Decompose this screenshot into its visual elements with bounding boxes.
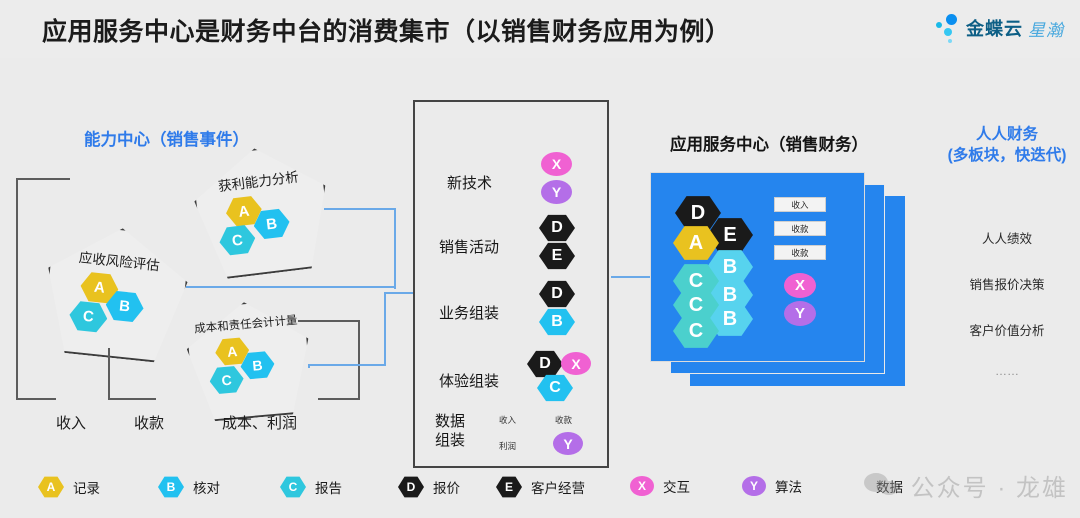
legend-item-e: E 客户经营 <box>496 476 585 498</box>
legend-label: 核对 <box>193 477 220 497</box>
mini-label-profit: 利润 <box>499 440 516 452</box>
connector-dark-mid-vertical <box>108 348 110 400</box>
token-y-ellipse[interactable]: Y <box>553 432 583 455</box>
token-d-icon: D <box>398 476 424 498</box>
legend-label: 报价 <box>433 477 460 497</box>
app-service-center-heading: 应用服务中心（销售财务） <box>670 131 868 155</box>
right-panel-heading-line1: 人人财务 <box>932 124 1080 145</box>
brand-logo: 金蝶云 星瀚 <box>935 10 1064 46</box>
legend-label: 交互 <box>663 476 690 496</box>
platform-row-label-sales-activity: 销售活动 <box>439 236 499 257</box>
right-list-item-4: …… <box>932 364 1080 378</box>
legend-item-y: Y 算法 <box>742 476 802 496</box>
bracket-left-vertical <box>16 178 18 400</box>
token-e-hex[interactable]: E <box>539 242 575 270</box>
logo-secondary-text: 星瀚 <box>1028 16 1064 41</box>
connector-blue-p1-vert <box>394 208 396 289</box>
legend-item-a: A 记录 <box>38 476 100 498</box>
token-x-ellipse[interactable]: X <box>561 352 591 375</box>
right-list-item-3[interactable]: 客户价值分析 <box>932 320 1080 339</box>
legend-label: 客户经营 <box>531 477 585 497</box>
token-c-hex[interactable]: C <box>537 374 573 402</box>
connector-blue-p3-horiz <box>308 364 386 366</box>
platform-row-label-experience-assembly: 体验组装 <box>439 370 499 391</box>
connector-blue-p1-horiz <box>324 208 396 210</box>
connector-blue-p3-vert <box>384 292 386 366</box>
pentagon-receivable-risk[interactable]: 应收风险评估 A B C <box>40 221 193 365</box>
token-x-icon: X <box>630 476 654 496</box>
token-a-icon: A <box>38 476 64 498</box>
connector-dark-right-vertical <box>358 320 360 400</box>
logo-dots-icon <box>935 13 961 43</box>
token-y-ellipse[interactable]: Y <box>541 180 572 204</box>
token-d-hex[interactable]: D <box>527 350 563 378</box>
platform-data-label-line2: 组装 <box>435 431 465 450</box>
platform-row-label-new-tech: 新技术 <box>447 172 492 193</box>
slide-canvas: 应用服务中心是财务中台的消费集市（以销售财务应用为例） 金蝶云 星瀚 能力中心（… <box>0 0 1080 518</box>
connector-dark-right-stub <box>298 320 360 322</box>
mini-label-receipt: 收款 <box>555 414 572 426</box>
token-b-hex[interactable]: B <box>539 308 575 336</box>
legend-item-x: X 交互 <box>630 476 690 496</box>
right-panel-heading: 人人财务 (多板块，快迭代) <box>932 124 1080 166</box>
wechat-icon <box>864 473 902 499</box>
right-list-item-1[interactable]: 人人绩效 <box>932 228 1080 247</box>
bracket-top-stub <box>16 178 70 180</box>
pentagon-cost-accounting[interactable]: 成本和责任会计计量 A B C <box>183 297 315 423</box>
mini-label-income: 收入 <box>499 414 516 426</box>
token-b-icon: B <box>158 476 184 498</box>
token-y-icon: Y <box>742 476 766 496</box>
bracket-left-foot <box>16 398 56 400</box>
connector-blue-into-platform <box>384 292 416 294</box>
watermark-text: 公众号 · 龙雄 <box>911 468 1068 503</box>
legend-label: 记录 <box>73 477 100 497</box>
legend-item-d: D 报价 <box>398 476 460 498</box>
legend-label: 算法 <box>775 476 802 496</box>
page-title: 应用服务中心是财务中台的消费集市（以销售财务应用为例） <box>42 12 731 48</box>
axis-label-receipt: 收款 <box>134 412 164 433</box>
right-panel-heading-line2: (多板块，快迭代) <box>932 145 1080 166</box>
connector-dark-right-foot <box>318 398 360 400</box>
platform-row-label-data-assembly: 数据 组装 <box>435 412 465 450</box>
connector-dark-mid-foot <box>108 398 156 400</box>
capability-center-area: 获利能力分析 A B C 应收风险评估 A B C 成本和责任会计计量 A B … <box>0 100 400 430</box>
right-list-item-2[interactable]: 销售报价决策 <box>932 274 1080 293</box>
connector-blue-p2-horiz <box>186 286 396 288</box>
platform-row-label-business-assembly: 业务组装 <box>439 302 499 323</box>
logo-primary-text: 金蝶云 <box>966 15 1023 41</box>
token-e-icon: E <box>496 476 522 498</box>
token-d-hex[interactable]: D <box>539 280 575 308</box>
connector-platform-to-card <box>611 276 655 278</box>
platform-data-label-line1: 数据 <box>435 412 465 431</box>
app-card-front[interactable]: D E A B B B C C C 收入 收款 收款 X Y <box>650 172 865 362</box>
watermark: 公众号 · 龙雄 <box>864 468 1068 503</box>
connector-blue-p3-dot <box>308 366 310 368</box>
axis-label-cost-profit: 成本、利润 <box>222 412 297 433</box>
token-x-ellipse[interactable]: X <box>784 273 816 298</box>
pill-income[interactable]: 收入 <box>774 197 826 212</box>
pill-receipt-1[interactable]: 收款 <box>774 221 826 236</box>
assembly-platform-panel: 新技术 X Y 销售活动 D E 业务组装 D B 体验组装 D X C 数据 … <box>413 100 609 468</box>
legend-item-b: B 核对 <box>158 476 220 498</box>
token-c-icon: C <box>280 476 306 498</box>
pill-receipt-2[interactable]: 收款 <box>774 245 826 260</box>
token-d-hex[interactable]: D <box>539 214 575 242</box>
legend-label: 报告 <box>315 477 342 497</box>
axis-label-income: 收入 <box>56 412 86 433</box>
token-y-ellipse[interactable]: Y <box>784 301 816 326</box>
token-x-ellipse[interactable]: X <box>541 152 572 176</box>
legend-item-c: C 报告 <box>280 476 342 498</box>
pentagon-profitability[interactable]: 获利能力分析 A B C <box>189 140 335 281</box>
